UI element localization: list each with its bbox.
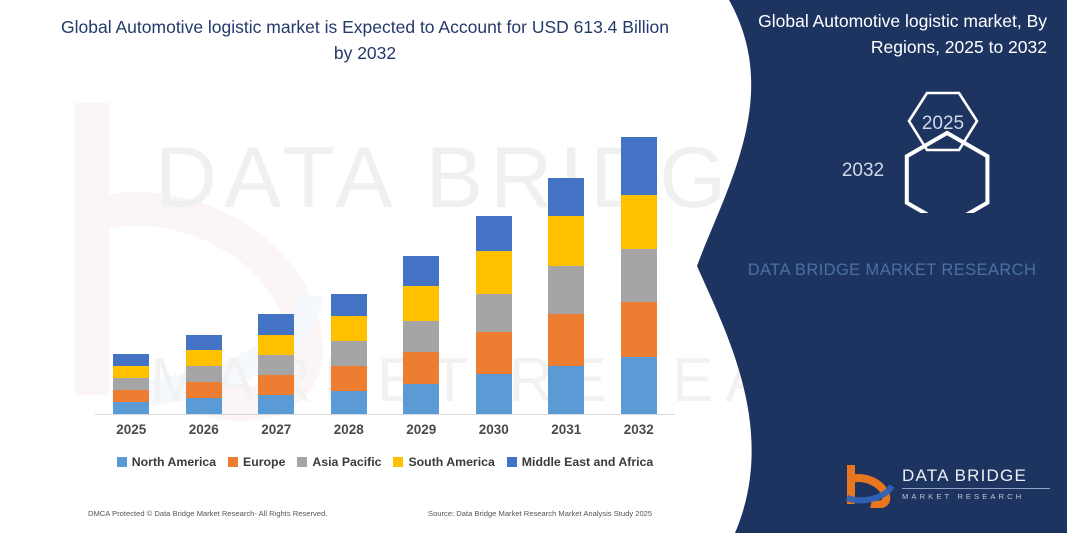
bar-segment [403, 286, 439, 321]
bar-segment [113, 390, 149, 402]
bar-segment [621, 249, 657, 302]
legend-label: Asia Pacific [312, 455, 381, 469]
bar-segment [548, 314, 584, 366]
bar-segment [186, 350, 222, 366]
bar-segment [113, 402, 149, 414]
hexagon-2032-label: 2032 [842, 160, 884, 181]
bar-segment [548, 216, 584, 266]
x-axis-label: 2031 [530, 422, 603, 437]
stacked-bar [548, 178, 584, 414]
bar-segment [621, 137, 657, 195]
bar-segment [258, 375, 294, 395]
bar-segment [113, 354, 149, 366]
x-axis-label: 2026 [168, 422, 241, 437]
bar-segment [403, 384, 439, 414]
bar-segment [476, 374, 512, 414]
bar-segment [331, 366, 367, 391]
bar-segment [548, 366, 584, 414]
legend-swatch-icon [507, 457, 517, 467]
bar-column [385, 120, 458, 414]
right-navy-panel: Global Automotive logistic market, By Re… [687, 0, 1067, 533]
panel-brand-text: DATA BRIDGE MARKET RESEARCH [742, 258, 1042, 284]
chart-legend: North AmericaEuropeAsia PacificSouth Ame… [95, 455, 675, 469]
panel-title: Global Automotive logistic market, By Re… [707, 8, 1047, 61]
legend-label: Middle East and Africa [522, 455, 653, 469]
dbmr-logo: DATA BRIDGE MARKET RESEARCH [842, 462, 1052, 510]
bar-segment [258, 355, 294, 375]
legend-swatch-icon [228, 457, 238, 467]
bar-group [95, 120, 675, 414]
stacked-bar [621, 137, 657, 414]
bar-column [240, 120, 313, 414]
bar-column [530, 120, 603, 414]
x-axis-label: 2029 [385, 422, 458, 437]
stacked-bar [113, 354, 149, 414]
bar-segment [476, 294, 512, 332]
legend-label: Europe [243, 455, 285, 469]
bar-segment [113, 366, 149, 378]
bar-segment [403, 256, 439, 286]
bar-segment [548, 266, 584, 314]
footer: DMCA Protected © Data Bridge Market Rese… [0, 509, 720, 523]
bar-segment [186, 382, 222, 398]
hexagon-badges: 2032 2025 [787, 88, 1067, 213]
footer-copyright: DMCA Protected © Data Bridge Market Rese… [88, 509, 327, 518]
hexagon-2025-label: 2025 [922, 113, 964, 134]
legend-label: North America [132, 455, 216, 469]
stacked-bar [186, 335, 222, 414]
bar-segment [258, 335, 294, 355]
dbmr-logo-rule [902, 488, 1050, 489]
x-axis-label: 2032 [603, 422, 676, 437]
bar-segment [186, 335, 222, 350]
stacked-bar [258, 314, 294, 414]
x-axis-label: 2028 [313, 422, 386, 437]
legend-item[interactable]: Middle East and Africa [507, 455, 653, 469]
chart-title: Global Automotive logistic market is Exp… [60, 14, 670, 67]
bar-segment [186, 366, 222, 382]
legend-item[interactable]: Europe [228, 455, 285, 469]
x-axis-labels: 20252026202720282029203020312032 [95, 422, 675, 437]
bar-segment [621, 302, 657, 357]
dbmr-logo-sub: MARKET RESEARCH [902, 492, 1052, 501]
legend-swatch-icon [393, 457, 403, 467]
bar-segment [331, 341, 367, 366]
legend-label: South America [408, 455, 494, 469]
dbmr-logo-main: DATA BRIDGE [902, 466, 1052, 486]
x-axis-label: 2025 [95, 422, 168, 437]
bar-segment [548, 178, 584, 216]
legend-swatch-icon [117, 457, 127, 467]
legend-item[interactable]: North America [117, 455, 216, 469]
infographic-canvas: DATA BRIDGE MARKET RESEARCH Global Autom… [0, 0, 1067, 533]
bar-column [168, 120, 241, 414]
bar-segment [186, 398, 222, 414]
bar-segment [113, 378, 149, 390]
stacked-bar [476, 216, 512, 414]
stacked-bar [403, 256, 439, 414]
bar-segment [621, 357, 657, 414]
x-axis-label: 2030 [458, 422, 531, 437]
bar-segment [476, 332, 512, 374]
legend-swatch-icon [297, 457, 307, 467]
x-axis-label: 2027 [240, 422, 313, 437]
bar-segment [331, 391, 367, 414]
bar-column [603, 120, 676, 414]
bar-segment [476, 216, 512, 251]
dbmr-logo-mark-icon [842, 462, 898, 508]
bar-column [458, 120, 531, 414]
bar-chart-plot-area [95, 120, 675, 415]
bar-segment [403, 321, 439, 352]
bar-segment [331, 316, 367, 341]
bar-segment [621, 195, 657, 249]
bar-segment [331, 294, 367, 316]
bar-segment [476, 251, 512, 294]
hexagon-2032-outline [907, 133, 988, 213]
stacked-bar [331, 294, 367, 414]
bar-column [95, 120, 168, 414]
bar-segment [258, 395, 294, 414]
dbmr-logo-text: DATA BRIDGE MARKET RESEARCH [902, 466, 1052, 501]
bar-column [313, 120, 386, 414]
x-axis-line [95, 414, 675, 415]
bar-segment [258, 314, 294, 335]
legend-item[interactable]: Asia Pacific [297, 455, 381, 469]
footer-source: Source: Data Bridge Market Research Mark… [428, 509, 652, 518]
legend-item[interactable]: South America [393, 455, 494, 469]
bar-segment [403, 352, 439, 384]
